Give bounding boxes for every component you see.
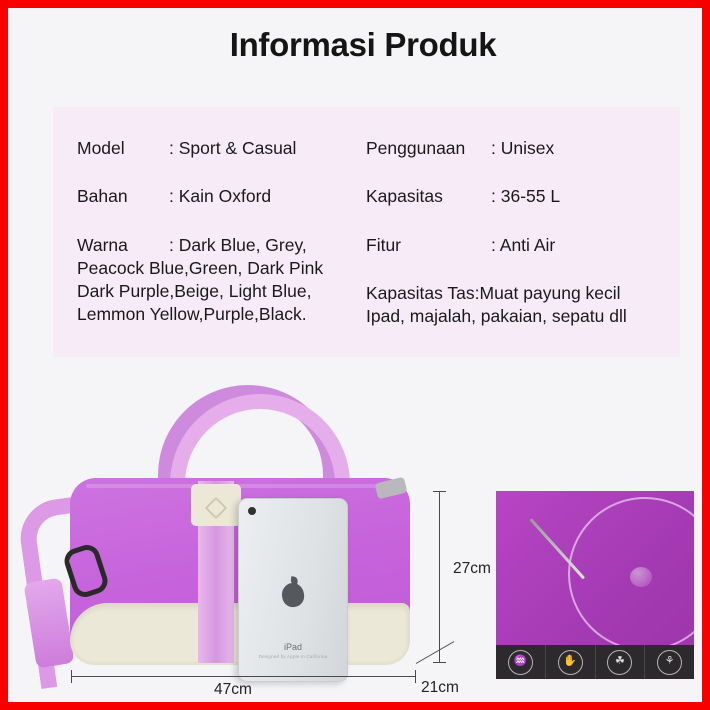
ipad-sublabel: Designed by Apple in California — [239, 654, 347, 659]
spec-row-penggunaan: Penggunaan : Unisex — [366, 137, 676, 160]
spec-key-kapasitas-tas: Kapasitas Tas: — [366, 282, 480, 305]
hand-wash-icon: ✋ — [558, 650, 583, 675]
specification-panel: Model : Sport & Casual Bahan : Kain Oxfo… — [53, 107, 680, 357]
product-info-page: Informasi Produk Model : Sport & Casual … — [0, 0, 710, 710]
spec-warna-line-3: Dark Purple,Beige, Light Blue, — [77, 280, 377, 303]
spec-row-bahan: Bahan : Kain Oxford — [77, 185, 377, 208]
camera-icon — [248, 507, 256, 515]
spec-row-model: Model : Sport & Casual — [77, 137, 377, 160]
spec-warna-line-1: Warna : Dark Blue, Grey, — [77, 234, 377, 257]
height-dimension-label: 27cm — [453, 560, 491, 578]
duffel-bag-image — [28, 368, 428, 698]
spec-column-right: Penggunaan : Unisex Kapasitas : 36-55 L … — [366, 137, 676, 334]
apple-logo-icon — [280, 581, 305, 608]
spec-row-fitur: Fitur : Anti Air — [366, 234, 676, 257]
waterproof-icon: ♒ — [508, 650, 533, 675]
width-dimension-label: 47cm — [214, 681, 252, 699]
icon-cell-3: ☘ — [596, 645, 646, 679]
spec-value-model: : Sport & Casual — [169, 137, 296, 160]
spec-key-bahan: Bahan — [77, 185, 169, 208]
ipad-label: iPad — [239, 642, 347, 652]
spec-key-warna: Warna — [77, 234, 169, 257]
spec-value-kapasitas: : 36-55 L — [491, 185, 560, 208]
spec-row-kapasitas: Kapasitas : 36-55 L — [366, 185, 676, 208]
spec-row-warna: Warna : Dark Blue, Grey, Peacock Blue,Gr… — [77, 234, 377, 327]
spec-value-penggunaan: : Unisex — [491, 137, 554, 160]
product-photo-area: iPad Designed by Apple in California 47c… — [16, 363, 710, 710]
spec-key-penggunaan: Penggunaan — [366, 137, 491, 160]
fabric-closeup-inset: ♒ ✋ ☘ ⚘ — [496, 491, 694, 679]
spec-kapasitas-tas-line-2: Ipad, majalah, pakaian, sepatu dll — [366, 305, 676, 328]
height-dimension-line — [439, 491, 440, 663]
depth-dimension-label: 21cm — [421, 679, 459, 697]
spec-key-kapasitas: Kapasitas — [366, 185, 491, 208]
water-droplet — [630, 567, 652, 587]
spec-warna-line-2: Peacock Blue,Green, Dark Pink — [77, 257, 377, 280]
spec-row-kapasitas-tas: Kapasitas Tas: Muat payung kecil Ipad, m… — [366, 282, 676, 329]
ipad-scale-reference: iPad Designed by Apple in California — [238, 498, 348, 682]
spec-kapasitas-tas-line-1: Kapasitas Tas: Muat payung kecil — [366, 282, 676, 305]
spec-warna-line-4: Lemmon Yellow,Purple,Black. — [77, 303, 377, 326]
spec-key-fitur: Fitur — [366, 234, 491, 257]
spec-key-model: Model — [77, 137, 169, 160]
icon-cell-4: ⚘ — [645, 645, 694, 679]
fabric-feature-icon-strip: ♒ ✋ ☘ ⚘ — [496, 645, 694, 679]
width-dimension-line — [71, 676, 416, 677]
spec-column-left: Model : Sport & Casual Bahan : Kain Oxfo… — [77, 137, 377, 333]
spec-value-fitur: : Anti Air — [491, 234, 555, 257]
water-repellent-icon: ⚘ — [657, 650, 682, 675]
bag-strap-tab — [191, 484, 241, 526]
icon-cell-2: ✋ — [546, 645, 596, 679]
spec-value-bahan: : Kain Oxford — [169, 185, 271, 208]
page-title: Informasi Produk — [8, 26, 710, 64]
icon-cell-1: ♒ — [496, 645, 546, 679]
spec-warna-value-1: : Dark Blue, Grey, — [169, 234, 307, 257]
water-droplets-icon: ☘ — [607, 650, 632, 675]
spec-kapasitas-tas-value-1: Muat payung kecil — [480, 282, 621, 305]
